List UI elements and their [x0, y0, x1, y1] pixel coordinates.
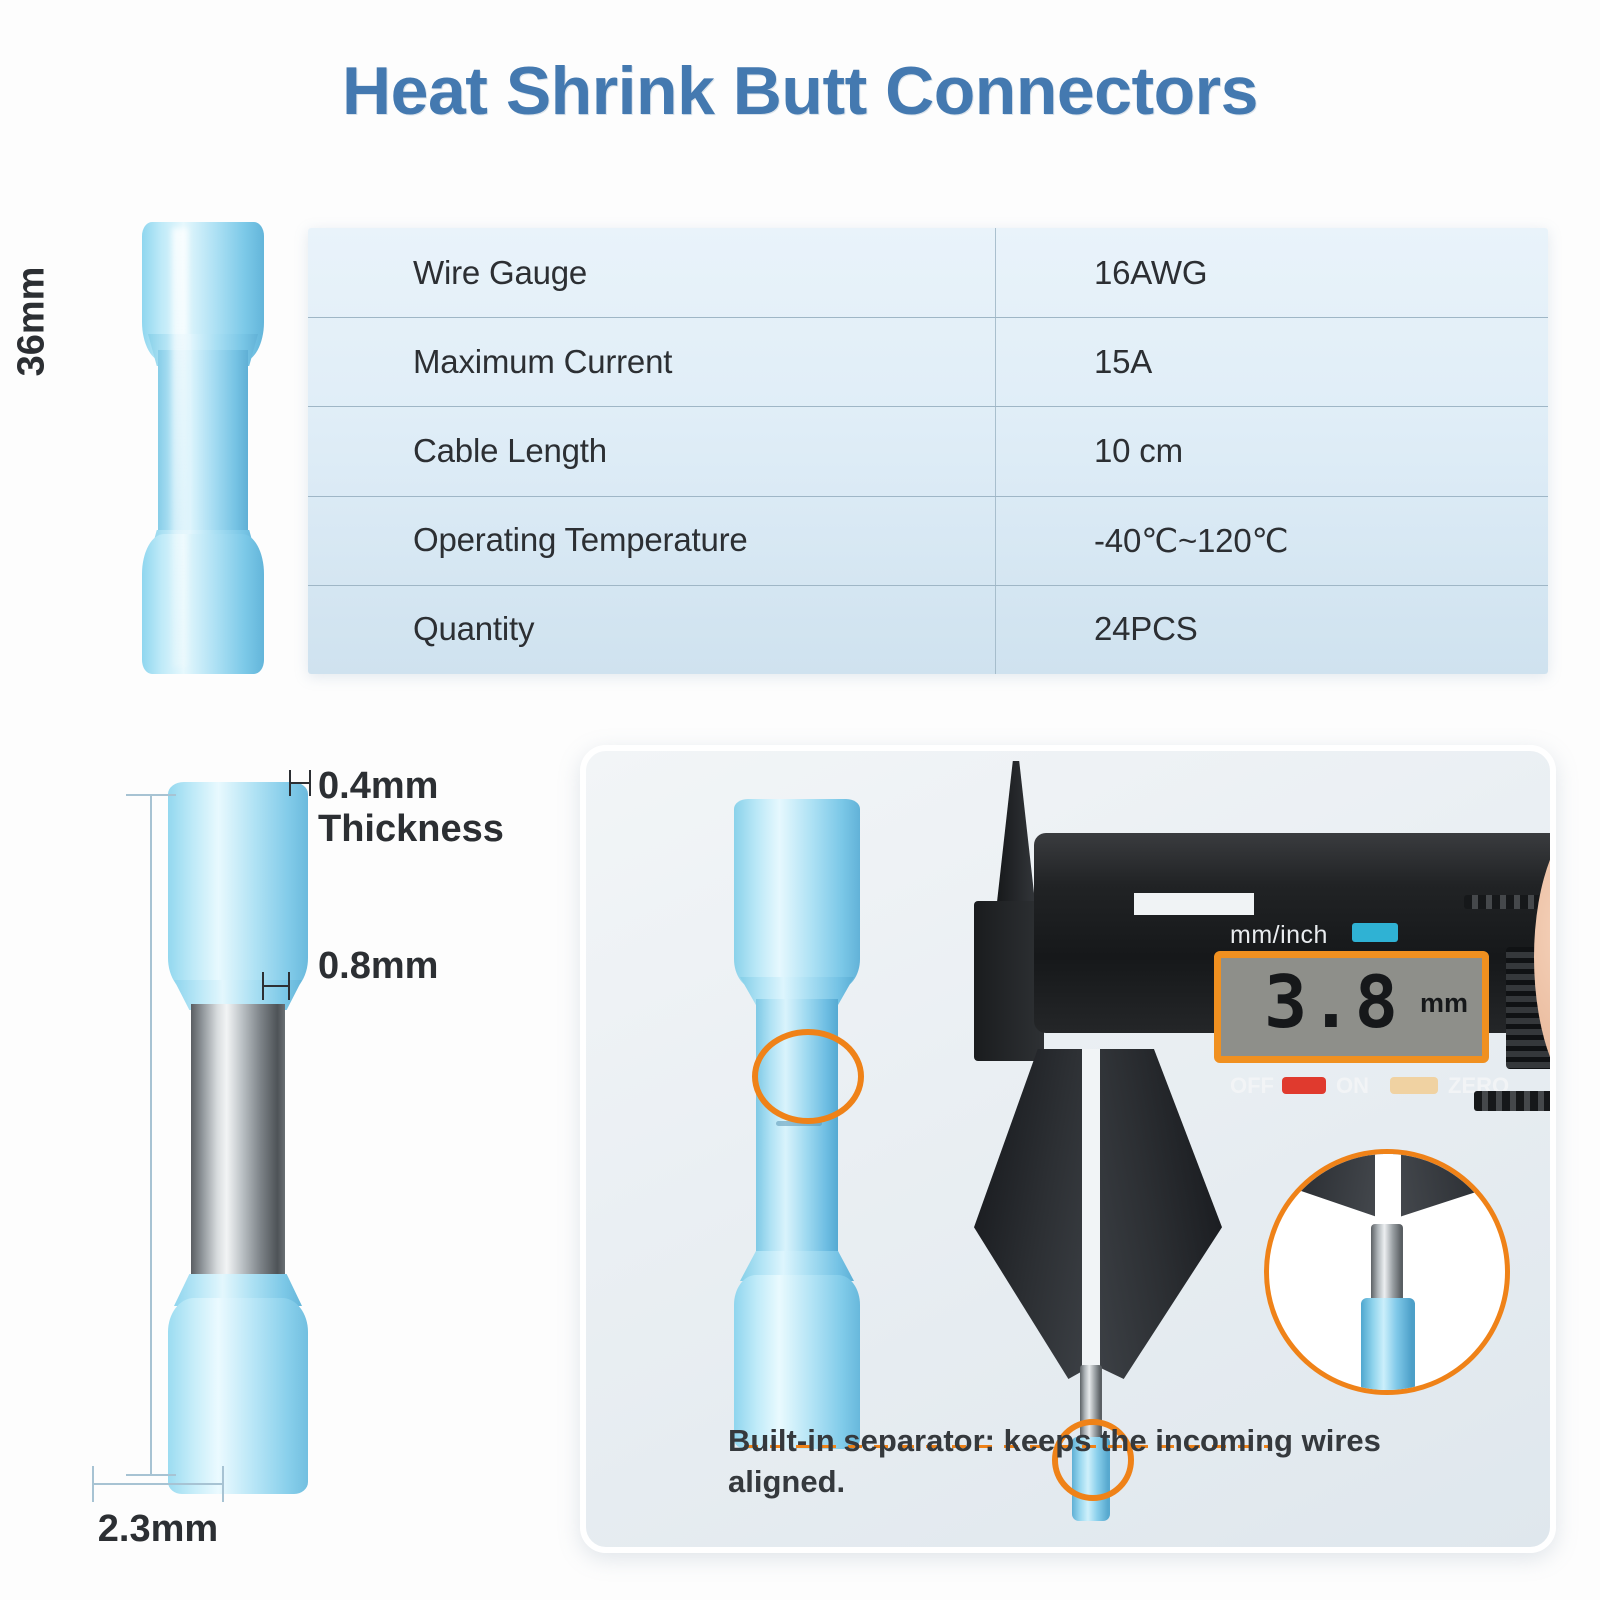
width-label: 2.3mm [0, 1508, 316, 1551]
spec-value: 16AWG [995, 254, 1548, 292]
length-label: 36mm [11, 252, 54, 392]
table-row: Wire Gauge 16AWG [308, 228, 1548, 317]
cutaway-top-sleeve [168, 782, 308, 994]
thickness-label: 0.4mm Thickness [318, 765, 618, 850]
spec-value: 10 cm [995, 432, 1548, 470]
connector-bottom-sleeve [142, 534, 264, 674]
table-row: Cable Length 10 cm [308, 406, 1548, 495]
caliper-jaw-gap [1082, 1049, 1100, 1375]
length-dimension-line [118, 790, 182, 1480]
cutaway-metal-barrel [191, 1004, 285, 1280]
table-row: Maximum Current 15A [308, 317, 1548, 406]
caliper-mode-label: mm/inch [1230, 921, 1328, 950]
spec-value: 24PCS [995, 610, 1548, 648]
table-row: Quantity 24PCS [308, 585, 1548, 674]
separator-highlight-ellipse [752, 1029, 864, 1124]
spec-value: -40℃~120℃ [995, 521, 1548, 560]
spec-table: Wire Gauge 16AWG Maximum Current 15A Cab… [308, 228, 1548, 674]
table-row: Operating Temperature -40℃~120℃ [308, 496, 1548, 585]
cutaway-bottom-sleeve [168, 1298, 308, 1494]
zero-button[interactable] [1390, 1077, 1438, 1094]
caliper-notch [1134, 893, 1254, 915]
inset-connector-sleeve [1361, 1298, 1415, 1395]
caliper-reading: 3.8 [1264, 968, 1400, 1036]
dimension-line [150, 794, 152, 1476]
connector-highlight [172, 228, 188, 668]
separator-demo-panel: mm/inch 3.8 mm OFF ON ZERO [580, 745, 1556, 1553]
page-title: Heat Shrink Butt Connectors [0, 52, 1600, 130]
caliper-jaw-right [1096, 1049, 1222, 1379]
spec-value: 15A [995, 343, 1548, 381]
caliper-body: mm/inch 3.8 mm OFF ON ZERO [1034, 833, 1556, 1033]
magnified-inset [1264, 1149, 1510, 1395]
mm-inch-button[interactable] [1352, 923, 1398, 942]
power-button[interactable] [1282, 1077, 1326, 1094]
thickness-tick-line [289, 782, 311, 784]
thickness-value: 0.4mm [318, 765, 438, 807]
product-photo-connector [128, 222, 278, 674]
panel-connector-photo [728, 799, 866, 1449]
caliper-lcd-screen: 3.8 mm [1214, 951, 1489, 1063]
spec-label: Maximum Current [308, 343, 995, 381]
gap-tick-right [288, 972, 290, 1000]
caliper-upper-blade [996, 761, 1036, 911]
off-label: OFF [1230, 1073, 1274, 1099]
caliper-unit: mm [1420, 988, 1468, 1019]
width-dimension-line [88, 1466, 228, 1502]
spec-label: Operating Temperature [308, 521, 995, 559]
spec-label: Quantity [308, 610, 995, 648]
dimension-cap-right [222, 1466, 224, 1502]
dimension-diagram [80, 740, 580, 1580]
thickness-word: Thickness [318, 808, 504, 850]
panel-caption: Built-in separator: keeps the incoming w… [728, 1420, 1428, 1503]
gap-label: 0.8mm [318, 945, 438, 988]
gap-tick-line [262, 985, 290, 987]
panel-connector-top-sleeve [734, 799, 860, 989]
thickness-tick-right [309, 770, 311, 796]
caliper-bottom-teeth [1474, 1091, 1556, 1111]
inset-metal-barrel [1371, 1224, 1403, 1304]
caliper-jaw-left [974, 1049, 1092, 1379]
product-infographic: Heat Shrink Butt Connectors Wire Gauge 1… [0, 0, 1600, 1600]
spec-label: Wire Gauge [308, 254, 995, 292]
on-label: ON [1336, 1073, 1369, 1099]
dimension-line [92, 1483, 224, 1485]
cutaway-connector [160, 782, 315, 1482]
spec-label: Cable Length [308, 432, 995, 470]
